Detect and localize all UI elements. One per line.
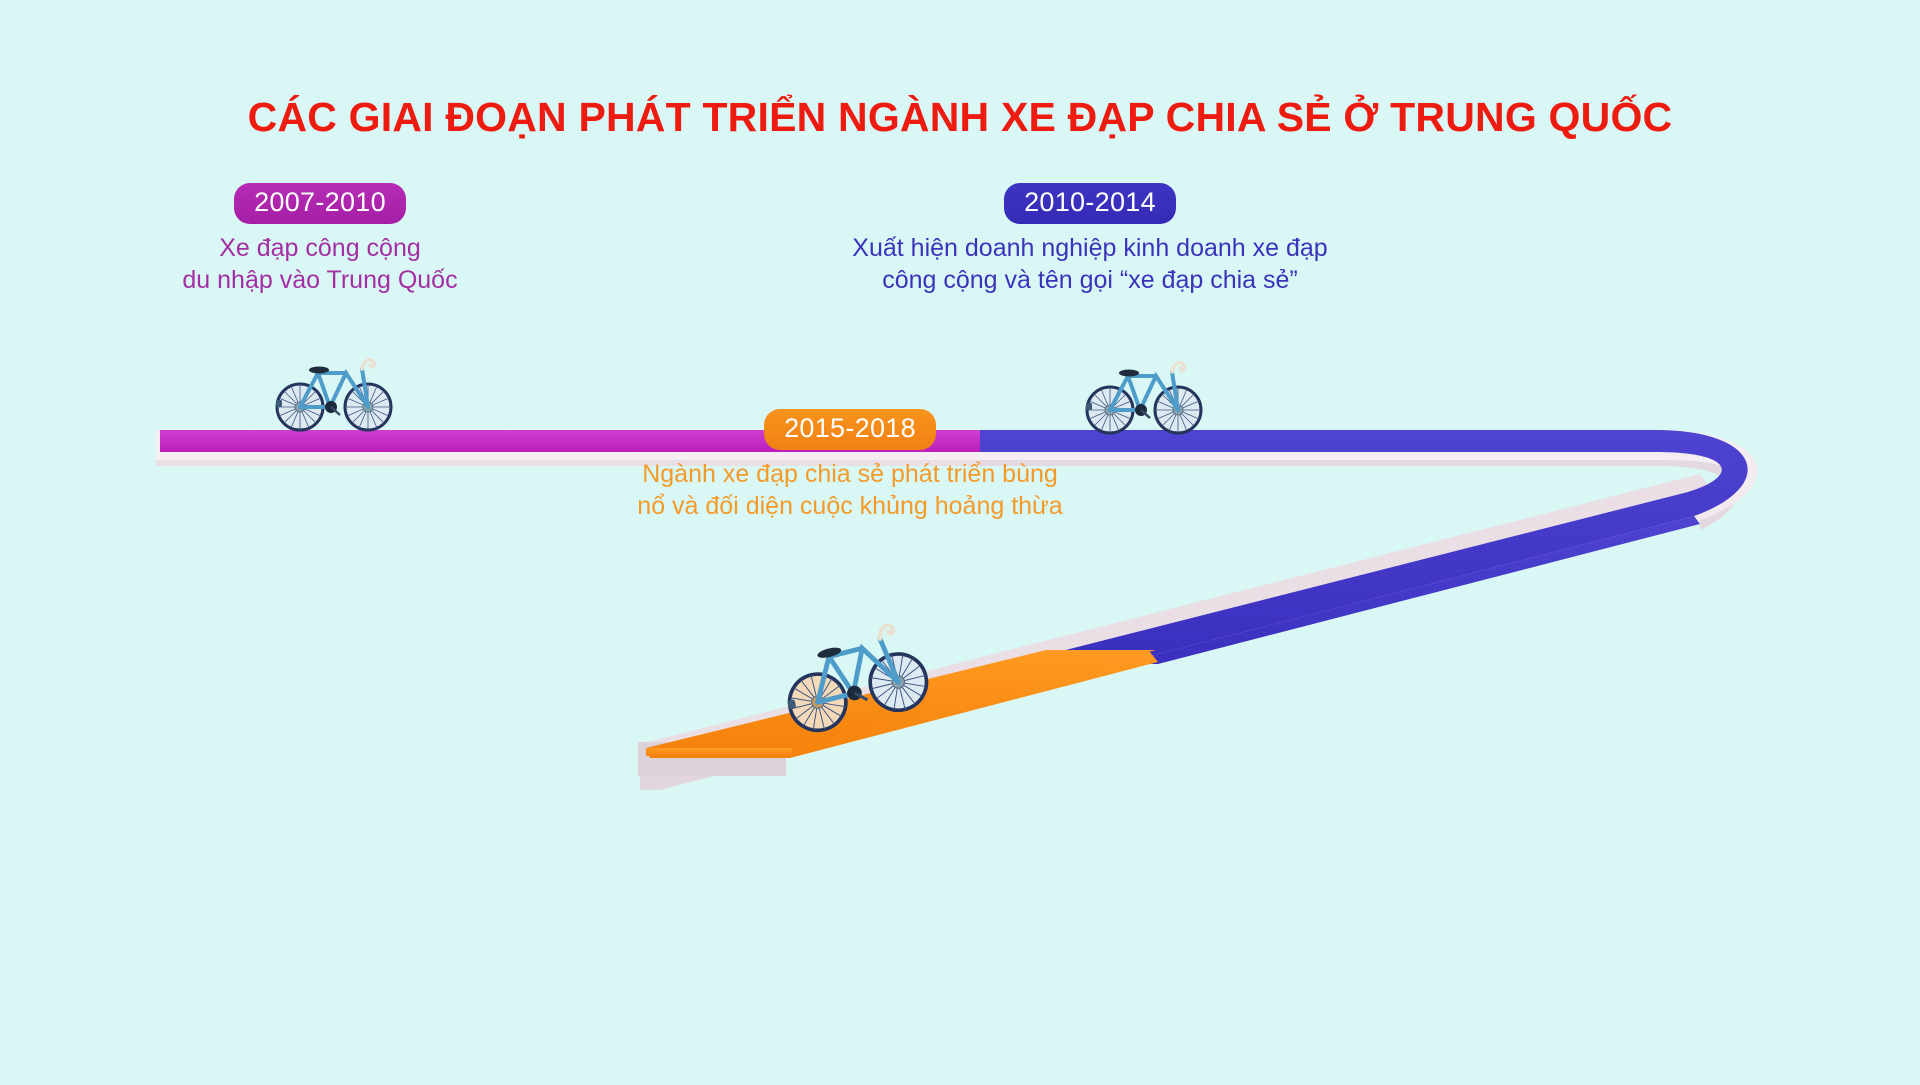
phase-badge-2015-2018[interactable]: 2015-2018 — [764, 409, 936, 450]
phase-badge-2007-2010[interactable]: 2007-2010 — [234, 183, 406, 224]
bicycle-icon-2015-2018 — [778, 617, 928, 732]
phase-description-line-1: Xuất hiện doanh nghiệp kinh doanh xe đạp — [700, 233, 1480, 265]
infographic-canvas: CÁC GIAI ĐOẠN PHÁT TRIỂN NGÀNH XE ĐẠP CH… — [0, 0, 1920, 1080]
timeline-road — [0, 0, 1920, 1080]
phase-description-line-2: công cộng và tên gọi “xe đạp chia sẻ” — [700, 265, 1480, 297]
phase-description-line-1: Ngành xe đạp chia sẻ phát triển bùng — [430, 459, 1270, 491]
phase-description-2010-2014: Xuất hiện doanh nghiệp kinh doanh xe đạp… — [700, 233, 1480, 296]
bicycle-icon — [274, 345, 394, 435]
phase-description-line-2: nổ và đối diện cuộc khủng hoảng thừa — [430, 491, 1270, 523]
bicycle-icon — [767, 600, 939, 743]
road-segment-2015-2018-body — [646, 748, 792, 756]
phase-badge-2010-2014[interactable]: 2010-2014 — [1004, 183, 1176, 224]
bicycle-icon-2010-2014 — [1084, 348, 1204, 443]
phase-2010-2014: 2010-2014 Xuất hiện doanh nghiệp kinh do… — [700, 183, 1480, 296]
phase-description-2007-2010: Xe đạp công cộng du nhập vào Trung Quốc — [110, 233, 530, 296]
road-svg — [0, 0, 1920, 1080]
phase-description-2015-2018: Ngành xe đạp chia sẻ phát triển bùng nổ … — [430, 459, 1270, 522]
phase-2007-2010: 2007-2010 Xe đạp công cộng du nhập vào T… — [110, 183, 530, 296]
phase-description-line-1: Xe đạp công cộng — [110, 233, 530, 265]
bicycle-icon — [1084, 348, 1204, 438]
phase-description-line-2: du nhập vào Trung Quốc — [110, 265, 530, 297]
bicycle-icon-2007-2010 — [274, 345, 394, 440]
